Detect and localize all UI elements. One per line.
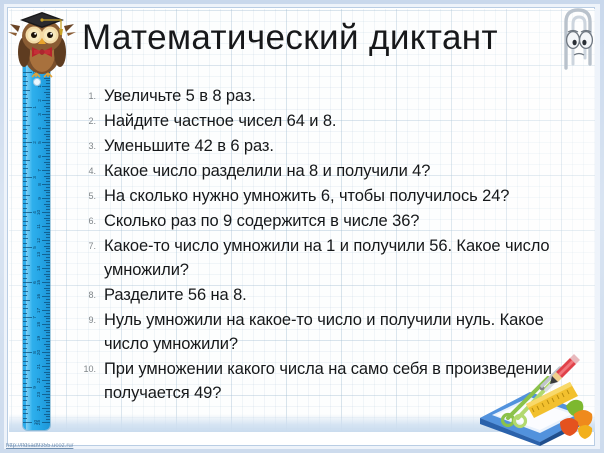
ruler-inch-label: 1 bbox=[32, 106, 37, 109]
ruler-cm-label: 12 bbox=[36, 237, 41, 242]
question-number: 6. bbox=[82, 209, 104, 233]
ruler-cm-label: 13 bbox=[36, 251, 41, 256]
ruler-inch-label: 2 bbox=[32, 141, 37, 144]
slide-canvas: Математический диктант 01234567891011121… bbox=[0, 0, 604, 453]
ruler-inch-label: 3 bbox=[32, 176, 37, 179]
question-row: 1.Увеличьте 5 в 8 раз. bbox=[82, 84, 552, 108]
ruler-cm-label: 21 bbox=[36, 363, 41, 368]
question-text: Увеличьте 5 в 8 раз. bbox=[104, 84, 552, 108]
source-watermark[interactable]: http://lfdsad9355.ucoz.ru/ bbox=[6, 442, 73, 450]
question-text: Какое-то число умножили на 1 и получили … bbox=[104, 234, 552, 282]
ruler-inch-label: 10 bbox=[33, 419, 38, 424]
question-text: На сколько нужно умножить 6, чтобы получ… bbox=[104, 184, 552, 208]
question-number: 8. bbox=[82, 283, 104, 307]
question-number: 7. bbox=[82, 234, 104, 258]
question-number: 3. bbox=[82, 134, 104, 158]
ruler-cm-label: 7 bbox=[37, 169, 42, 172]
paperclip-character-icon bbox=[556, 6, 600, 72]
ruler-cm-label: 4 bbox=[37, 127, 42, 130]
question-text: При умножении какого числа на само себя … bbox=[104, 357, 552, 405]
question-row: 3.Уменьшите 42 в 6 раз. bbox=[82, 134, 552, 158]
ruler-cm-label: 1 bbox=[37, 85, 42, 88]
ruler-cm-label: 22 bbox=[36, 377, 41, 382]
ruler-cm-label: 16 bbox=[36, 293, 41, 298]
ruler-cm-label: 19 bbox=[36, 335, 41, 340]
question-row: 4.Какое число разделили на 8 и получили … bbox=[82, 159, 552, 183]
ruler-inch-label: 5 bbox=[32, 246, 37, 249]
question-number: 2. bbox=[82, 109, 104, 133]
question-number: 1. bbox=[82, 84, 104, 108]
ruler-inch-label: 8 bbox=[32, 351, 37, 354]
question-row: 2.Найдите частное чисел 64 и 8. bbox=[82, 109, 552, 133]
ruler-cm-label: 6 bbox=[37, 155, 42, 158]
ruler-cm-label: 14 bbox=[36, 265, 41, 270]
page-title: Математический диктант bbox=[82, 16, 498, 60]
ruler-cm-label: 17 bbox=[36, 307, 41, 312]
question-number: 4. bbox=[82, 159, 104, 183]
ruler-inch-label: 4 bbox=[32, 211, 37, 214]
question-text: Нуль умножили на какое-то число и получи… bbox=[104, 308, 552, 356]
ruler-cm-label: 24 bbox=[36, 405, 41, 410]
ruler-cm-label: 5 bbox=[37, 141, 42, 144]
ruler-inch-label: 9 bbox=[32, 386, 37, 389]
question-row: 5.На сколько нужно умножить 6, чтобы пол… bbox=[82, 184, 552, 208]
question-text: Уменьшите 42 в 6 раз. bbox=[104, 134, 552, 158]
ruler-cm-label: 23 bbox=[36, 391, 41, 396]
question-row: 9. Нуль умножили на какое-то число и пол… bbox=[82, 308, 552, 356]
ruler-inch-label: 7 bbox=[32, 316, 37, 319]
ruler-inch-label: 6 bbox=[32, 281, 37, 284]
ruler-graphic: 0123456789101112131415161718192021222324… bbox=[23, 64, 50, 430]
question-number: 9. bbox=[82, 308, 104, 332]
ruler-cm-label: 3 bbox=[37, 113, 42, 116]
question-row: 10.При умножении какого числа на само се… bbox=[82, 357, 552, 405]
question-text: Сколько раз по 9 содержится в числе 36? bbox=[104, 209, 552, 233]
question-text: Какое число разделили на 8 и получили 4? bbox=[104, 159, 552, 183]
question-number: 10. bbox=[82, 357, 104, 381]
question-row: 8.Разделите 56 на 8. bbox=[82, 283, 552, 307]
ruler-cm-label: 9 bbox=[37, 197, 42, 200]
question-text: Найдите частное чисел 64 и 8. bbox=[104, 109, 552, 133]
question-text: Разделите 56 на 8. bbox=[104, 283, 552, 307]
ruler-cm-label: 18 bbox=[36, 321, 41, 326]
question-list: 1.Увеличьте 5 в 8 раз.2.Найдите частное … bbox=[82, 84, 552, 406]
ruler-cm-label: 2 bbox=[37, 99, 42, 102]
question-number: 5. bbox=[82, 184, 104, 208]
owl-graduate-icon bbox=[8, 6, 76, 80]
question-row: 6.Сколько раз по 9 содержится в числе 36… bbox=[82, 209, 552, 233]
question-row: 7.Какое-то число умножили на 1 и получил… bbox=[82, 234, 552, 282]
ruler-cm-label: 11 bbox=[36, 224, 41, 229]
ruler-cm-label: 8 bbox=[37, 183, 42, 186]
